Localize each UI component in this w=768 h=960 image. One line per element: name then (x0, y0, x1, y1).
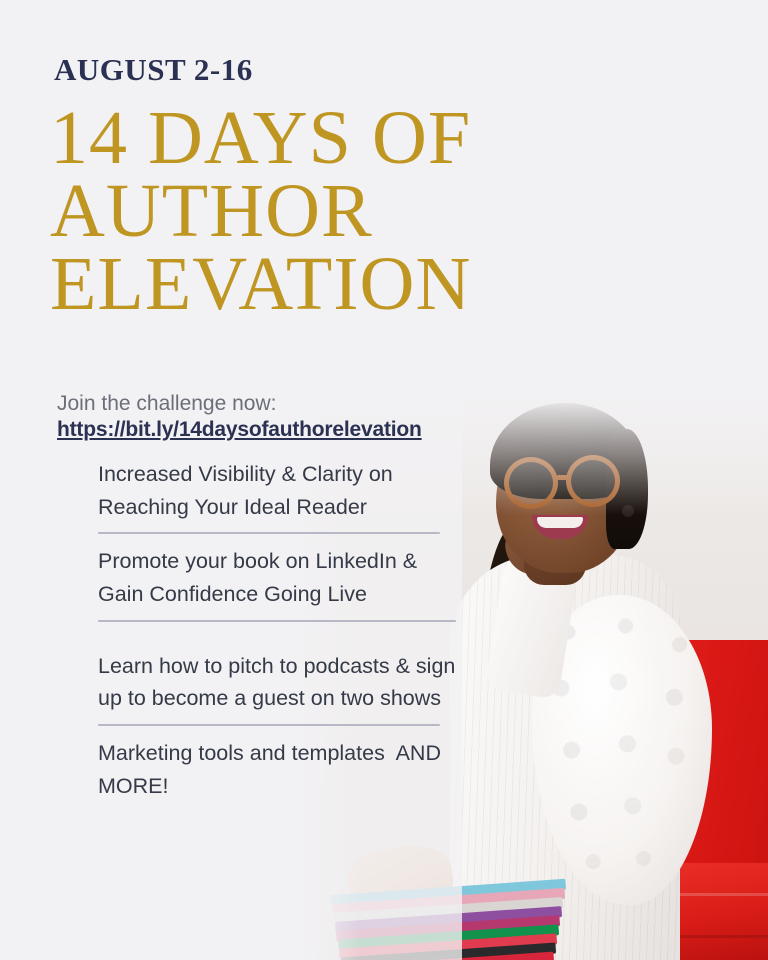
headline-line-1: 14 DAYS OF (50, 102, 520, 175)
benefit-item-3: Learn how to pitch to podcasts & sign up… (98, 650, 458, 715)
poster-content: AUGUST 2-16 14 DAYS OF AUTHOR ELEVATION … (0, 0, 768, 960)
date-range-label: AUGUST 2-16 (54, 52, 253, 88)
benefit-item-2: Promote your book on LinkedIn & Gain Con… (98, 545, 458, 610)
headline-line-3: ELEVATION (50, 248, 520, 321)
benefits-list: Increased Visibility & Clarity on Reachi… (98, 458, 458, 802)
benefit-spacer (98, 633, 458, 650)
promotional-poster: AUGUST 2-16 14 DAYS OF AUTHOR ELEVATION … (0, 0, 768, 960)
benefit-divider-1 (98, 532, 440, 534)
page-title: 14 DAYS OF AUTHOR ELEVATION (50, 102, 520, 321)
benefit-divider-2 (98, 620, 456, 622)
benefit-divider-3 (98, 724, 440, 726)
cta-link[interactable]: https://bit.ly/14daysofauthorelevation (57, 418, 422, 442)
benefit-item-4: Marketing tools and templates AND MORE! (98, 737, 458, 802)
benefit-item-1: Increased Visibility & Clarity on Reachi… (98, 458, 458, 523)
headline-line-2: AUTHOR (50, 175, 520, 248)
cta-label: Join the challenge now: (57, 392, 277, 416)
